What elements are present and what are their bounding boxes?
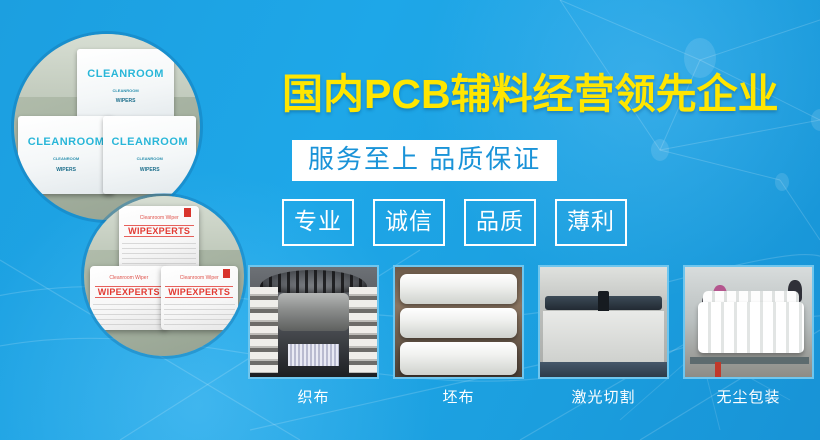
pack-brand-label: CLEANROOM (25, 136, 106, 148)
product-photo-cleanroom-wipes: CLEANROOM CLEANROOM WIPERS CLEANROOM CLE… (14, 34, 200, 220)
work-table (690, 357, 809, 364)
banner-headline: 国内PCB辅料经营领先企业 (282, 74, 779, 115)
feature-tag: 专业 (282, 199, 354, 246)
pack-type-label: WIPERS (85, 98, 166, 104)
product-photo-wipexperts: Cleanroom Wiper WIPEXPERTS Cleanroom Wip… (84, 196, 244, 356)
process-photo-cell: 激光切割 (538, 265, 669, 407)
slogan-text: 服务至上 品质保证 (308, 144, 541, 174)
packaged-goods-stack (698, 302, 805, 353)
photo-caption: 无尘包装 (683, 386, 814, 407)
cutting-bed (543, 311, 665, 362)
feature-tag: 品质 (464, 199, 536, 246)
yarn-spools-left (250, 287, 278, 373)
wipe-pack: CLEANROOM CLEANROOM WIPERS (103, 116, 196, 194)
wipexperts-pack: Cleanroom Wiper WIPEXPERTS (90, 266, 167, 330)
feature-tag-row: 专业 诚信 品质 薄利 (282, 199, 627, 246)
pack-subtitle: CLEANROOM (85, 88, 166, 93)
pack-brand-label: WIPEXPERTS (95, 286, 163, 298)
photo-weaving-machine (248, 265, 379, 379)
promo-banner: CLEANROOM CLEANROOM WIPERS CLEANROOM CLE… (0, 0, 820, 440)
slogan-box: 服务至上 品质保证 (292, 140, 557, 181)
feature-tag: 诚信 (373, 199, 445, 246)
feature-tag: 薄利 (555, 199, 627, 246)
pack-type-label: WIPERS (111, 167, 189, 173)
process-photo-cell: 无尘包装 (683, 265, 814, 407)
pack-brand-label: CLEANROOM (111, 136, 189, 148)
pack-subtitle: Cleanroom Wiper (98, 275, 159, 281)
photo-cleanroom-packing (683, 265, 814, 379)
machine-base (540, 362, 667, 377)
pack-subtitle: CLEANROOM (25, 156, 106, 161)
wipexperts-pack: Cleanroom Wiper WIPEXPERTS (119, 206, 199, 270)
process-photo-cell: 坯布 (393, 265, 524, 407)
pack-subtitle: Cleanroom Wiper (168, 275, 229, 281)
wipe-pack: CLEANROOM CLEANROOM WIPERS (77, 49, 174, 123)
process-photo-cell: 织布 (248, 265, 379, 407)
pack-subtitle: Cleanroom Wiper (127, 215, 191, 221)
pack-brand-label: WIPEXPERTS (165, 286, 233, 298)
photo-greige-fabric-rolls (393, 265, 524, 379)
photo-caption: 激光切割 (538, 386, 669, 407)
wipe-pack: CLEANROOM CLEANROOM WIPERS (18, 116, 115, 194)
process-photo-strip: 织布 坯布 激光切割 (248, 265, 814, 407)
fabric-roll (400, 308, 517, 339)
knitted-fabric (288, 344, 339, 366)
pack-brand-label: CLEANROOM (85, 68, 166, 80)
pack-type-label: WIPERS (25, 167, 106, 173)
table-leg (715, 362, 720, 377)
pack-subtitle: CLEANROOM (111, 156, 189, 161)
wipexperts-pack: Cleanroom Wiper WIPEXPERTS (161, 266, 238, 330)
fabric-roll (400, 274, 517, 305)
pack-brand-label: WIPEXPERTS (124, 225, 194, 237)
laser-gantry (545, 296, 662, 310)
photo-laser-cutting-machine (538, 265, 669, 379)
yarn-spools-right (349, 287, 377, 373)
photo-caption: 坯布 (393, 386, 524, 407)
fabric-roll (400, 342, 517, 375)
photo-caption: 织布 (248, 386, 379, 407)
machine-body (278, 293, 349, 330)
